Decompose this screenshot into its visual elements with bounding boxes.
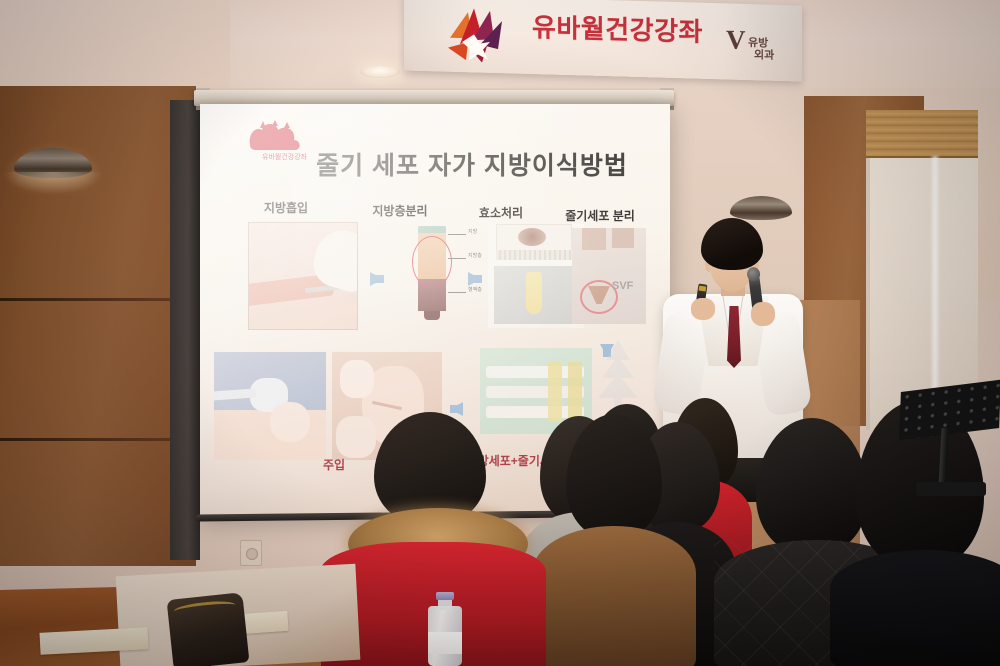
centrifuge-tube-diagram: 지방 지방층 혈액층	[396, 222, 502, 332]
caption-liposuction: 지방흡입	[238, 199, 334, 216]
presenter-hand-right	[751, 302, 775, 326]
presenter-hair	[701, 218, 763, 270]
attendee-body	[830, 550, 1000, 666]
event-banner: 유바웥건강강좌 V 유방 외과	[404, 0, 802, 82]
music-stand-base	[916, 482, 986, 496]
tube-callout-1: 지방	[468, 228, 477, 235]
window-light-gap	[930, 156, 940, 418]
arrow-left-icon	[450, 402, 463, 416]
wall-dark-column	[170, 100, 200, 560]
evian-water-bottle	[428, 592, 462, 666]
injection-photo	[214, 352, 326, 460]
presenter-hand-left	[691, 298, 715, 320]
tube-callout-3: 혈액층	[468, 286, 482, 293]
svf-separation-photo: SVF	[572, 228, 646, 324]
arrow-right-icon	[370, 272, 383, 286]
handbag	[167, 592, 250, 666]
music-stand-plate	[899, 380, 1000, 441]
slide-title: 줄기 세포 자가 지방이식방법	[292, 146, 652, 182]
caption-stemcell-separation: 줄기세포 분리	[548, 207, 652, 224]
bottle-label	[428, 632, 462, 654]
handbag-trim	[173, 599, 236, 617]
music-stand	[900, 386, 1000, 496]
ceiling-left	[0, 0, 230, 96]
caption-enzyme-treatment: 효소처리	[458, 204, 544, 221]
attendee-body	[532, 526, 696, 666]
window-blinds	[866, 110, 978, 158]
arrow-right-icon	[468, 272, 481, 286]
power-outlet	[240, 540, 262, 566]
music-stand-pole	[938, 428, 948, 490]
liposuction-photo	[248, 222, 358, 330]
window	[866, 110, 978, 430]
ceiling-downlight	[360, 66, 400, 78]
enzyme-lab-photo	[488, 224, 584, 328]
necktie	[727, 306, 741, 368]
bottle-cap	[436, 592, 454, 600]
tube-callout-2: 지방층	[468, 252, 482, 259]
caption-fat-layer-separation: 지방층분리	[352, 202, 448, 219]
lecture-room-photo: 유바웥건강강좌 V 유방 외과 유바웥건강강좌 줄기 세포 자가 지방이식방법 …	[0, 0, 1000, 666]
caption-injection: 주입	[304, 456, 364, 473]
sconce-glow	[4, 172, 102, 194]
banner-fold-shading	[404, 0, 802, 82]
red-highlight-ellipse	[412, 236, 452, 288]
